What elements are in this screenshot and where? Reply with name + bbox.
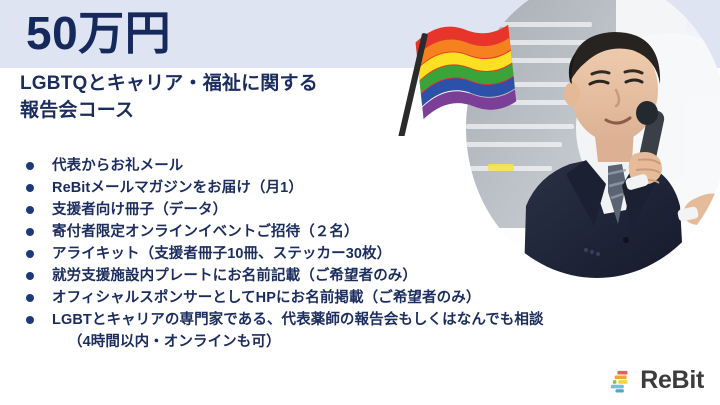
list-item: 寄付者限定オンラインイベントご招待（２名） bbox=[26, 221, 686, 243]
course-subtitle-line-1: LGBTQとキャリア・福祉に関する bbox=[20, 70, 440, 97]
list-item: 就労支援施設内プレートにお名前記載（ご希望者のみ） bbox=[26, 265, 686, 287]
list-item-label: 寄付者限定オンラインイベントご招待（２名） bbox=[52, 224, 359, 240]
bullet-dot-icon bbox=[26, 184, 34, 192]
list-item: オフィシャルスポンサーとしてHPにお名前掲載（ご希望者のみ） bbox=[26, 287, 686, 309]
course-subtitle-line-2: 報告会コース bbox=[20, 97, 440, 124]
list-item-label: ReBitメールマガジンをお届け（月1） bbox=[52, 180, 303, 196]
rebit-logo-wordmark: ReBit bbox=[640, 368, 704, 393]
list-item: アライキット（支援者冊子10冊、ステッカー30枚） bbox=[26, 243, 686, 265]
bullet-dot-icon bbox=[26, 272, 34, 280]
list-item-label: 代表からお礼メール bbox=[52, 158, 183, 174]
course-subtitle: LGBTQとキャリア・福祉に関する 報告会コース bbox=[20, 70, 440, 124]
list-item: ReBitメールマガジンをお届け（月1） bbox=[26, 177, 686, 199]
list-item-label: 就労支援施設内プレートにお名前記載（ご希望者のみ） bbox=[52, 268, 417, 284]
bullet-dot-icon bbox=[26, 316, 34, 324]
bullet-dot-icon bbox=[26, 294, 34, 302]
bullet-dot-icon bbox=[26, 162, 34, 170]
slide-canvas: 50万円 LGBTQとキャリア・福祉に関する 報告会コース bbox=[0, 0, 720, 405]
bullet-dot-icon bbox=[26, 228, 34, 236]
list-item-label: アライキット（支援者冊子10冊、ステッカー30枚） bbox=[52, 246, 391, 262]
page-title: 50万円 bbox=[26, 2, 171, 64]
list-item: 支援者向け冊子（データ） bbox=[26, 199, 686, 221]
bullet-dot-icon bbox=[26, 250, 34, 258]
bullet-dot-icon bbox=[26, 206, 34, 214]
rebit-logo-mark-icon bbox=[610, 369, 634, 393]
list-item-label: オフィシャルスポンサーとしてHPにお名前掲載（ご希望者のみ） bbox=[52, 290, 480, 306]
list-item-label: LGBTとキャリアの専門家である、代表薬師の報告会もしくはなんでも相談 bbox=[52, 312, 544, 328]
benefits-list: 代表からお礼メール ReBitメールマガジンをお届け（月1） 支援者向け冊子（デ… bbox=[26, 155, 686, 353]
list-item-continuation: （4時間以内・オンラインも可） bbox=[52, 331, 686, 353]
rebit-logo: ReBit bbox=[610, 368, 704, 393]
list-item: 代表からお礼メール bbox=[26, 155, 686, 177]
list-item: LGBTとキャリアの専門家である、代表薬師の報告会もしくはなんでも相談 （4時間… bbox=[26, 309, 686, 353]
list-item-label: 支援者向け冊子（データ） bbox=[52, 202, 227, 218]
